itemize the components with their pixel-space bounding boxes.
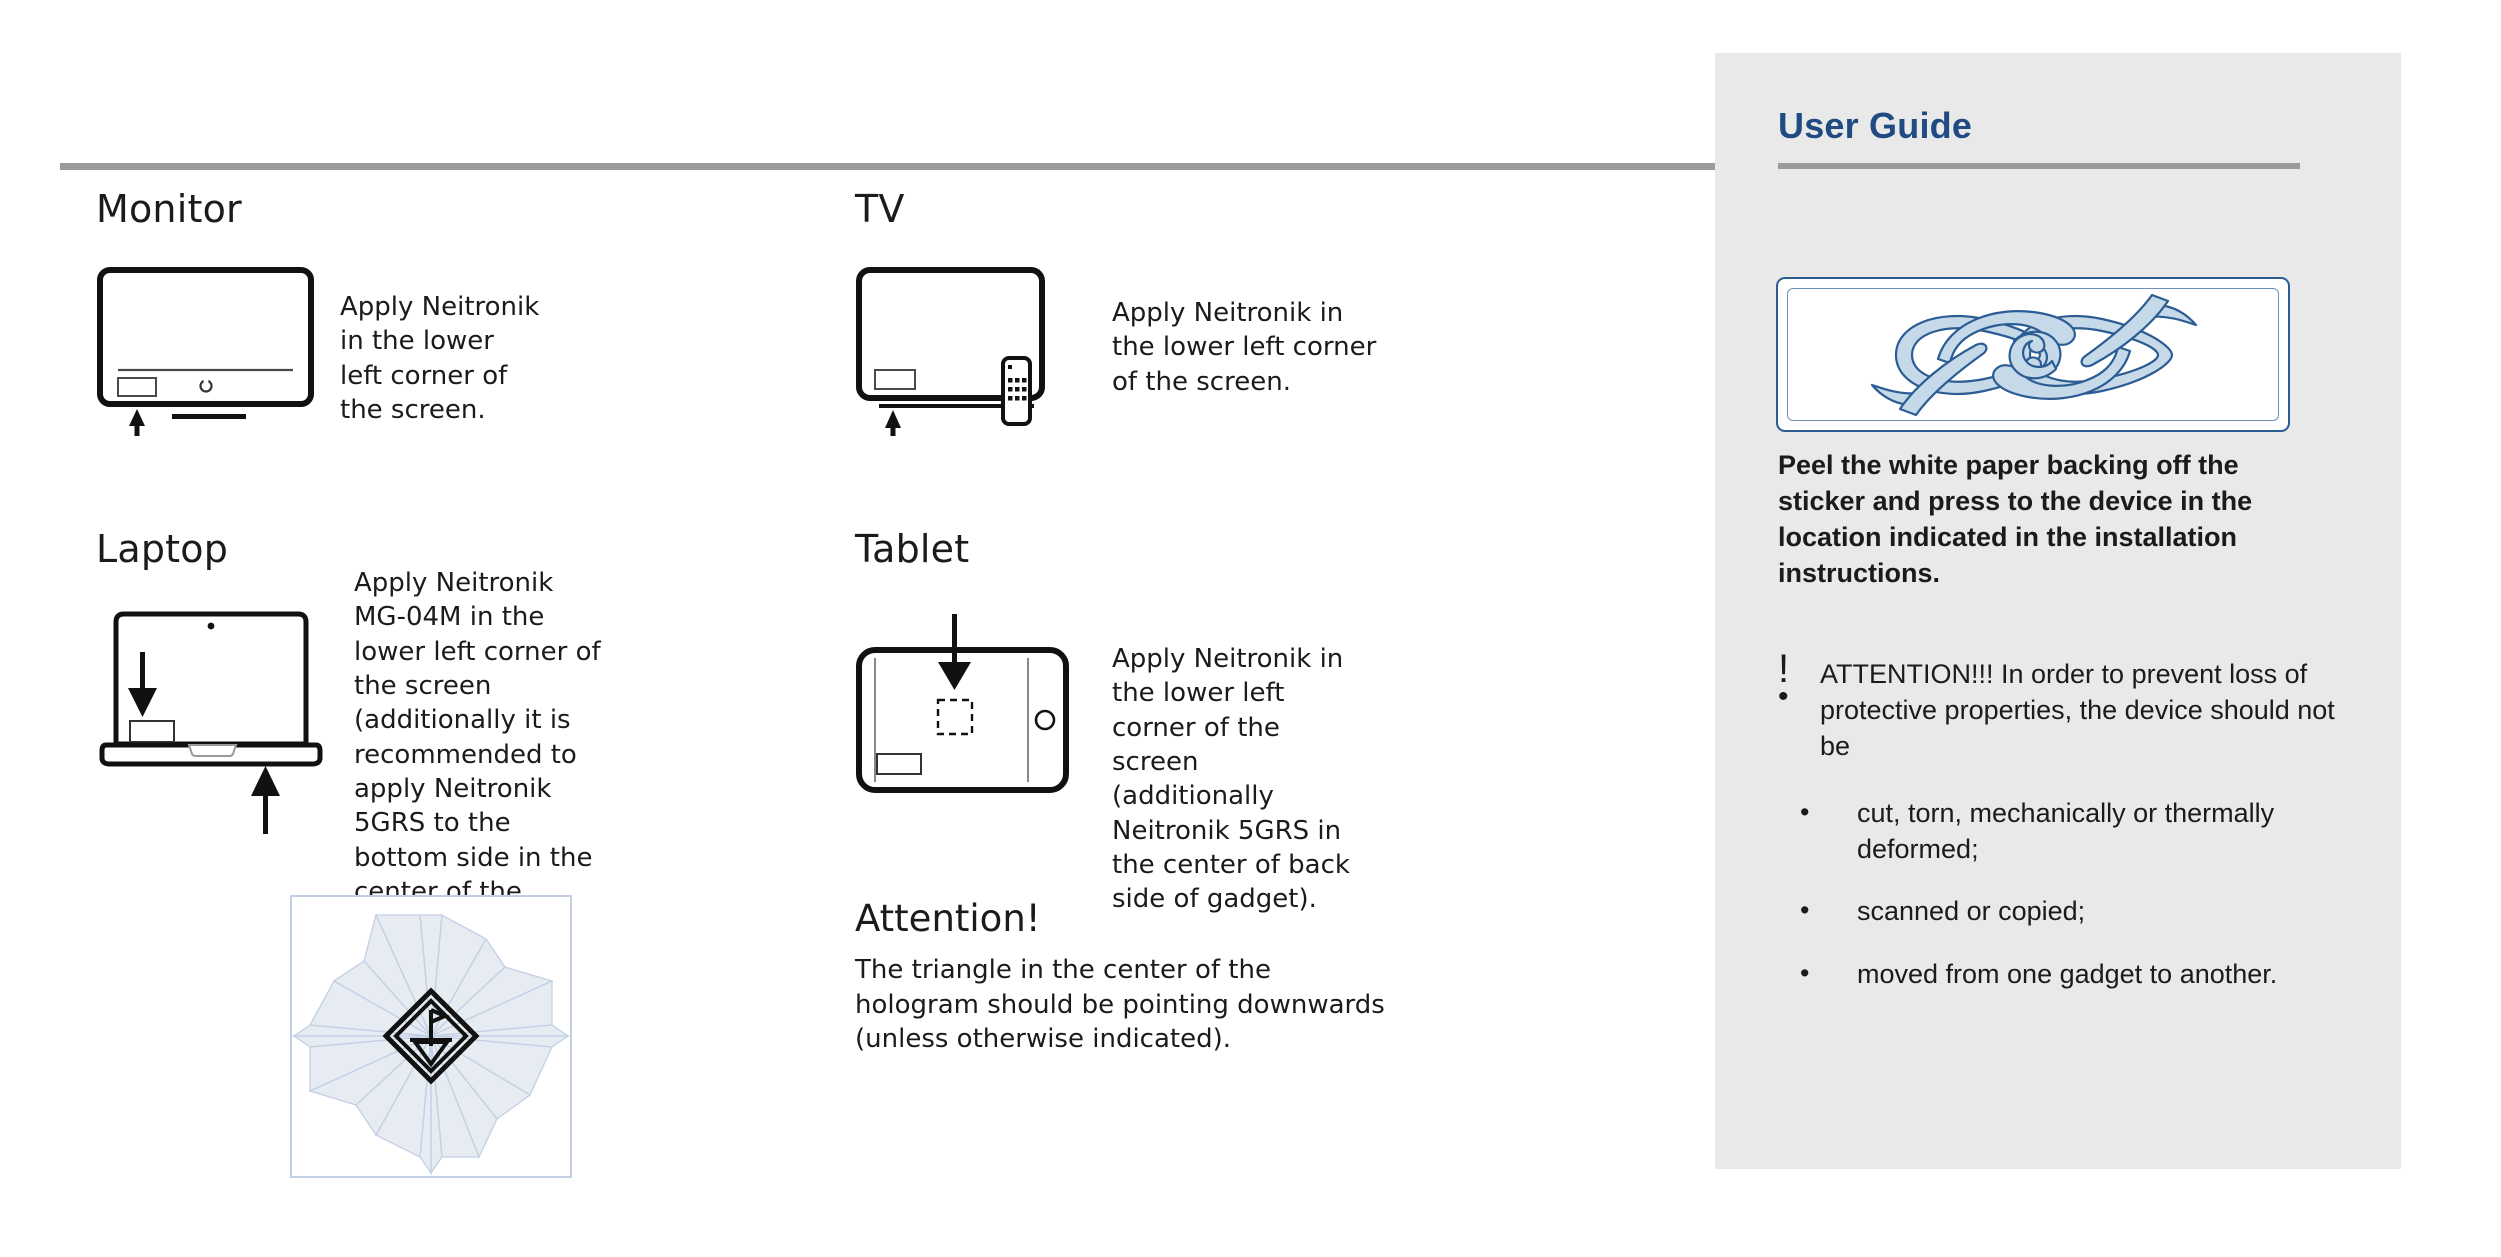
- list-item: • scanned or copied;: [1778, 893, 2358, 929]
- list-item: • moved from one gadget to another.: [1778, 956, 2358, 992]
- device-caption-monitor: Apply Neitronik in the lower left corner…: [340, 290, 540, 427]
- device-section-laptop: Laptop: [96, 530, 604, 943]
- bullet-icon: •: [1800, 794, 1809, 830]
- device-caption-tv: Apply Neitronik in the lower left corner…: [1112, 296, 1387, 399]
- device-body-laptop: Apply Neitronik MG-04M in the lower left…: [96, 604, 604, 943]
- list-item: • cut, torn, mechanically or thermally d…: [1778, 795, 2358, 867]
- tablet-illustration: [855, 614, 1080, 799]
- device-caption-tablet: Apply Neitronik in the lower left corner…: [1112, 642, 1362, 917]
- bullet-icon: •: [1800, 892, 1809, 928]
- sidebar-instruction-text: Peel the white paper backing off the sti…: [1778, 448, 2318, 592]
- sticker-preview-frame: [1776, 277, 2290, 432]
- sticker-preview-inner: [1787, 288, 2279, 421]
- attention-exclamation-icon: ! •: [1778, 652, 1820, 707]
- device-heading-tv: TV: [855, 190, 1387, 228]
- device-body-tv: Apply Neitronik in the lower left corner…: [855, 266, 1387, 436]
- instruction-sheet: Monitor: [0, 0, 1715, 1257]
- device-section-monitor: Monitor: [96, 190, 540, 436]
- laptop-illustration: [96, 604, 326, 839]
- device-caption-laptop: Apply Neitronik MG-04M in the lower left…: [354, 566, 604, 943]
- attention-title: Attention!: [855, 900, 1385, 937]
- celtic-knot-icon: [1788, 289, 2279, 421]
- device-heading-laptop: Laptop: [96, 530, 604, 568]
- prohibition-list: • cut, torn, mechanically or thermally d…: [1778, 795, 2358, 1018]
- device-body-monitor: Apply Neitronik in the lower left corner…: [96, 266, 540, 436]
- list-item-label: cut, torn, mechanically or thermally def…: [1857, 798, 2274, 864]
- sidebar-attention-notice: ! • ATTENTION!!! In order to prevent los…: [1778, 656, 2348, 765]
- monitor-illustration: [96, 266, 316, 436]
- device-section-tv: TV: [855, 190, 1387, 436]
- hologram-starburst-sample: [290, 895, 572, 1178]
- attention-section: Attention! The triangle in the center of…: [855, 900, 1385, 1057]
- attention-dot-glyph: •: [1778, 686, 1820, 707]
- device-heading-monitor: Monitor: [96, 190, 540, 228]
- top-divider-rule: [60, 163, 1715, 170]
- sidebar-title: User Guide: [1778, 108, 1972, 144]
- device-heading-tablet: Tablet: [855, 530, 1362, 568]
- list-item-label: scanned or copied;: [1857, 896, 2085, 926]
- tv-illustration: [855, 266, 1080, 436]
- list-item-label: moved from one gadget to another.: [1857, 959, 2277, 989]
- bullet-icon: •: [1800, 955, 1809, 991]
- user-guide-panel: User Guide: [1715, 53, 2401, 1169]
- sidebar-attention-text: ATTENTION!!! In order to prevent loss of…: [1820, 656, 2348, 765]
- device-body-tablet: Apply Neitronik in the lower left corner…: [855, 614, 1362, 917]
- sidebar-title-rule: [1778, 163, 2300, 169]
- device-section-tablet: Tablet: [855, 530, 1362, 917]
- attention-text: The triangle in the center of the hologr…: [855, 953, 1385, 1057]
